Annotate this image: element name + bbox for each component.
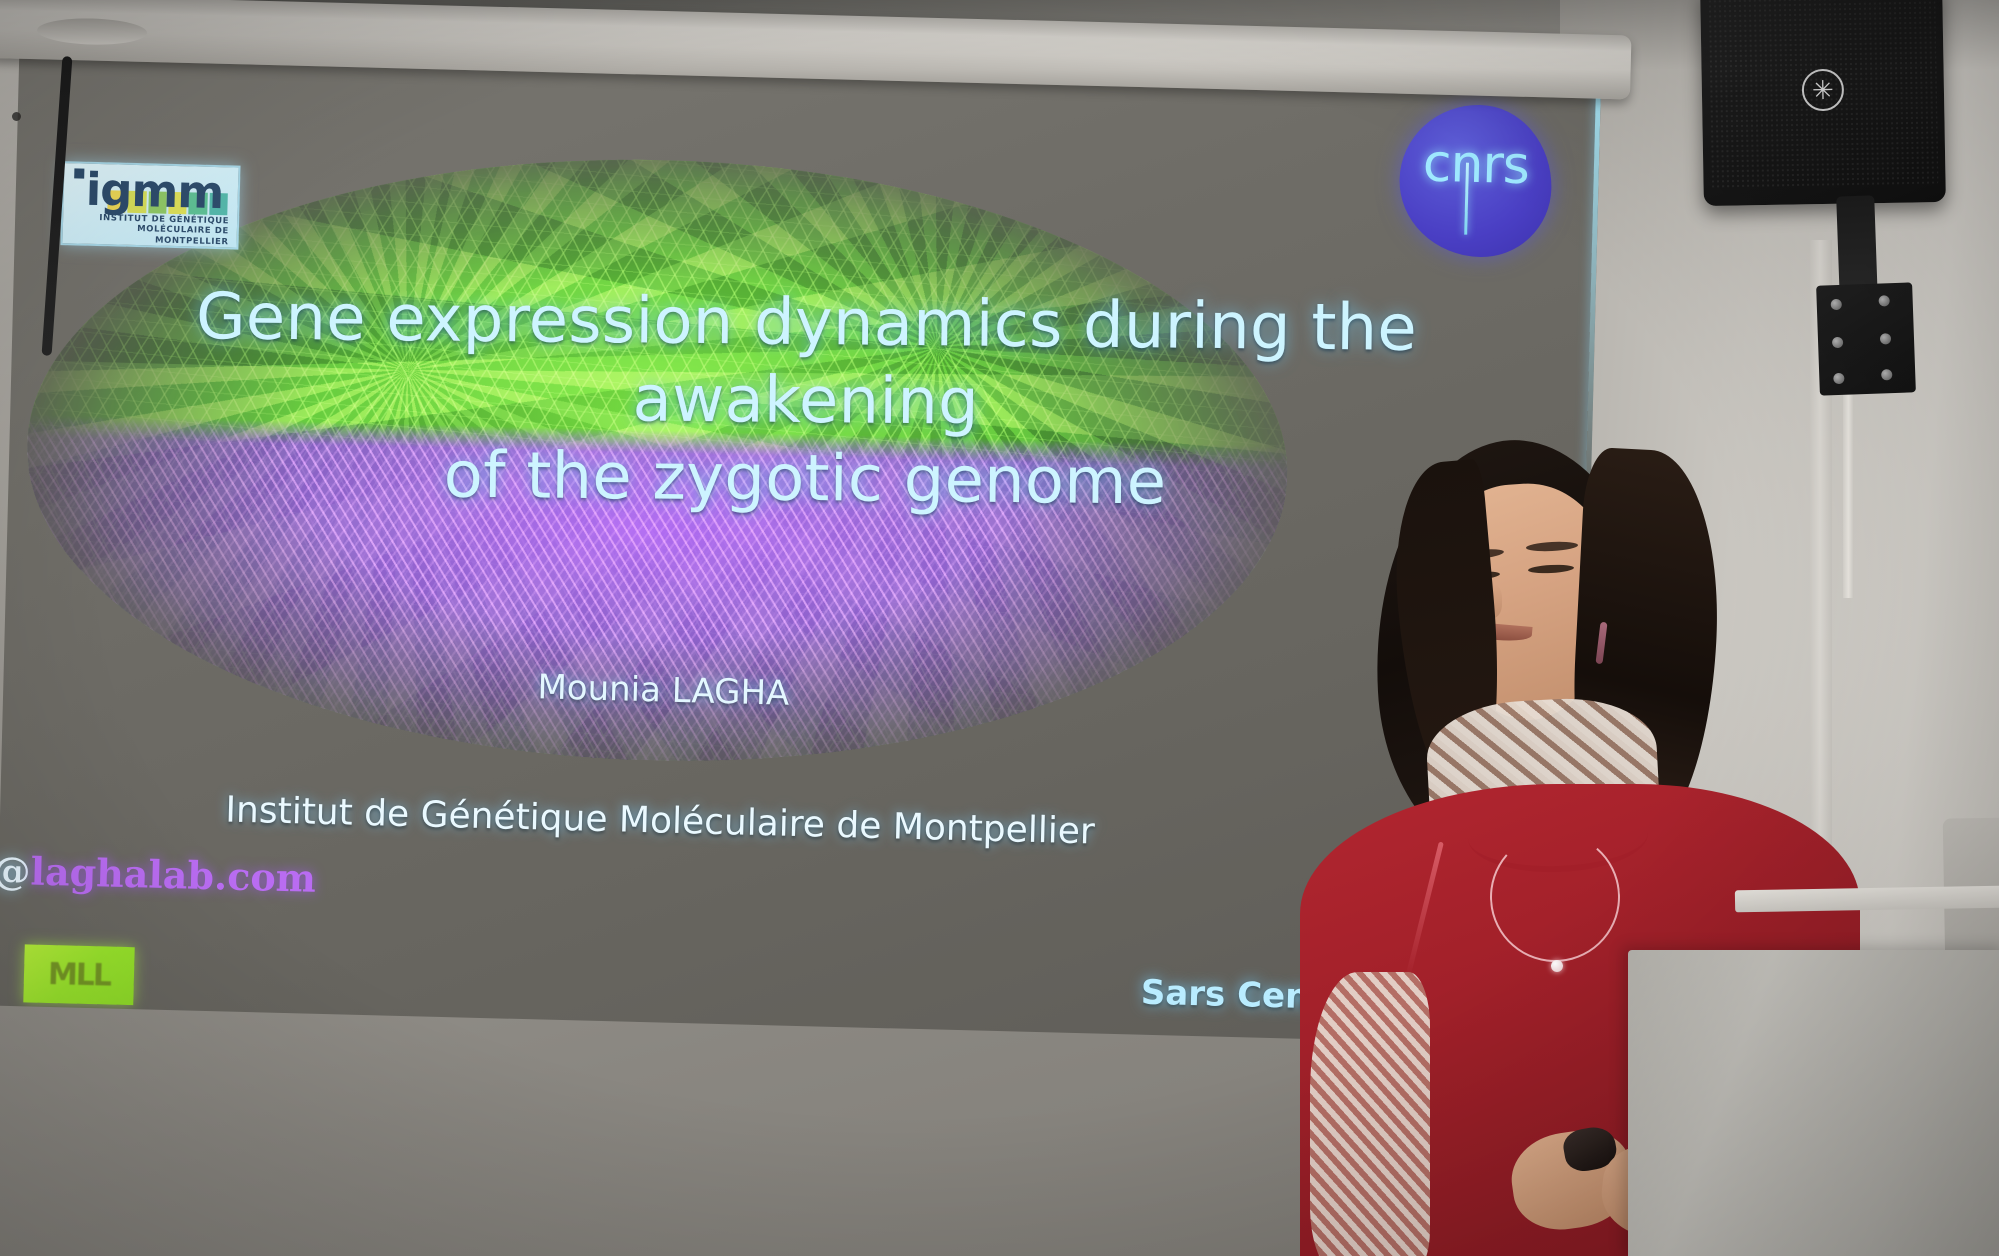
roller-end-cap bbox=[37, 17, 148, 46]
presenter-sleeve bbox=[1310, 972, 1430, 1256]
photo-scene: igmm INSTITUT DE GÉNÉTIQUE MOLÉCULAIRE D… bbox=[0, 0, 1999, 1256]
slide-affiliation: Institut de Génétique Moléculaire de Mon… bbox=[0, 784, 1320, 858]
igmm-i-dot bbox=[74, 168, 84, 178]
slide-title-line1: Gene expression dynamics during the awak… bbox=[70, 277, 1541, 447]
website-domain: laghalab.com bbox=[30, 849, 316, 901]
mll-wordmark: MLL bbox=[48, 957, 111, 994]
website-at-symbol: @ bbox=[0, 848, 31, 894]
igmm-wordmark-text: igmm bbox=[85, 163, 224, 219]
igmm-wordmark: igmm bbox=[73, 168, 230, 215]
yamaha-tuning-fork-glyph: ✳ bbox=[1812, 77, 1834, 103]
roller-mount-screw bbox=[12, 112, 21, 121]
igmm-subtitle: INSTITUT DE GÉNÉTIQUE MOLÉCULAIRE DE MON… bbox=[72, 212, 229, 248]
igmm-letters: igmm bbox=[73, 162, 224, 219]
slide-website: @laghalab.com bbox=[0, 848, 317, 901]
lectern bbox=[1628, 950, 1999, 1256]
igmm-logo: igmm INSTITUT DE GÉNÉTIQUE MOLÉCULAIRE D… bbox=[60, 161, 240, 249]
igmm-subtitle-line2: MOLÉCULAIRE DE MONTPELLIER bbox=[72, 223, 228, 248]
cnrs-logo: cnrs bbox=[1398, 103, 1554, 259]
lectern-top-surface bbox=[1735, 886, 1999, 913]
speaker-mount-plate bbox=[1816, 282, 1916, 395]
mll-logo: MLL bbox=[23, 944, 134, 1005]
presenter-pendant bbox=[1551, 960, 1563, 972]
slide-title-line2: of the zygotic genome bbox=[70, 433, 1541, 525]
cnrs-wordmark: cnrs bbox=[1399, 133, 1552, 197]
yamaha-speaker: ✳ bbox=[1700, 0, 1946, 206]
slide-title: Gene expression dynamics during the awak… bbox=[70, 277, 1542, 525]
